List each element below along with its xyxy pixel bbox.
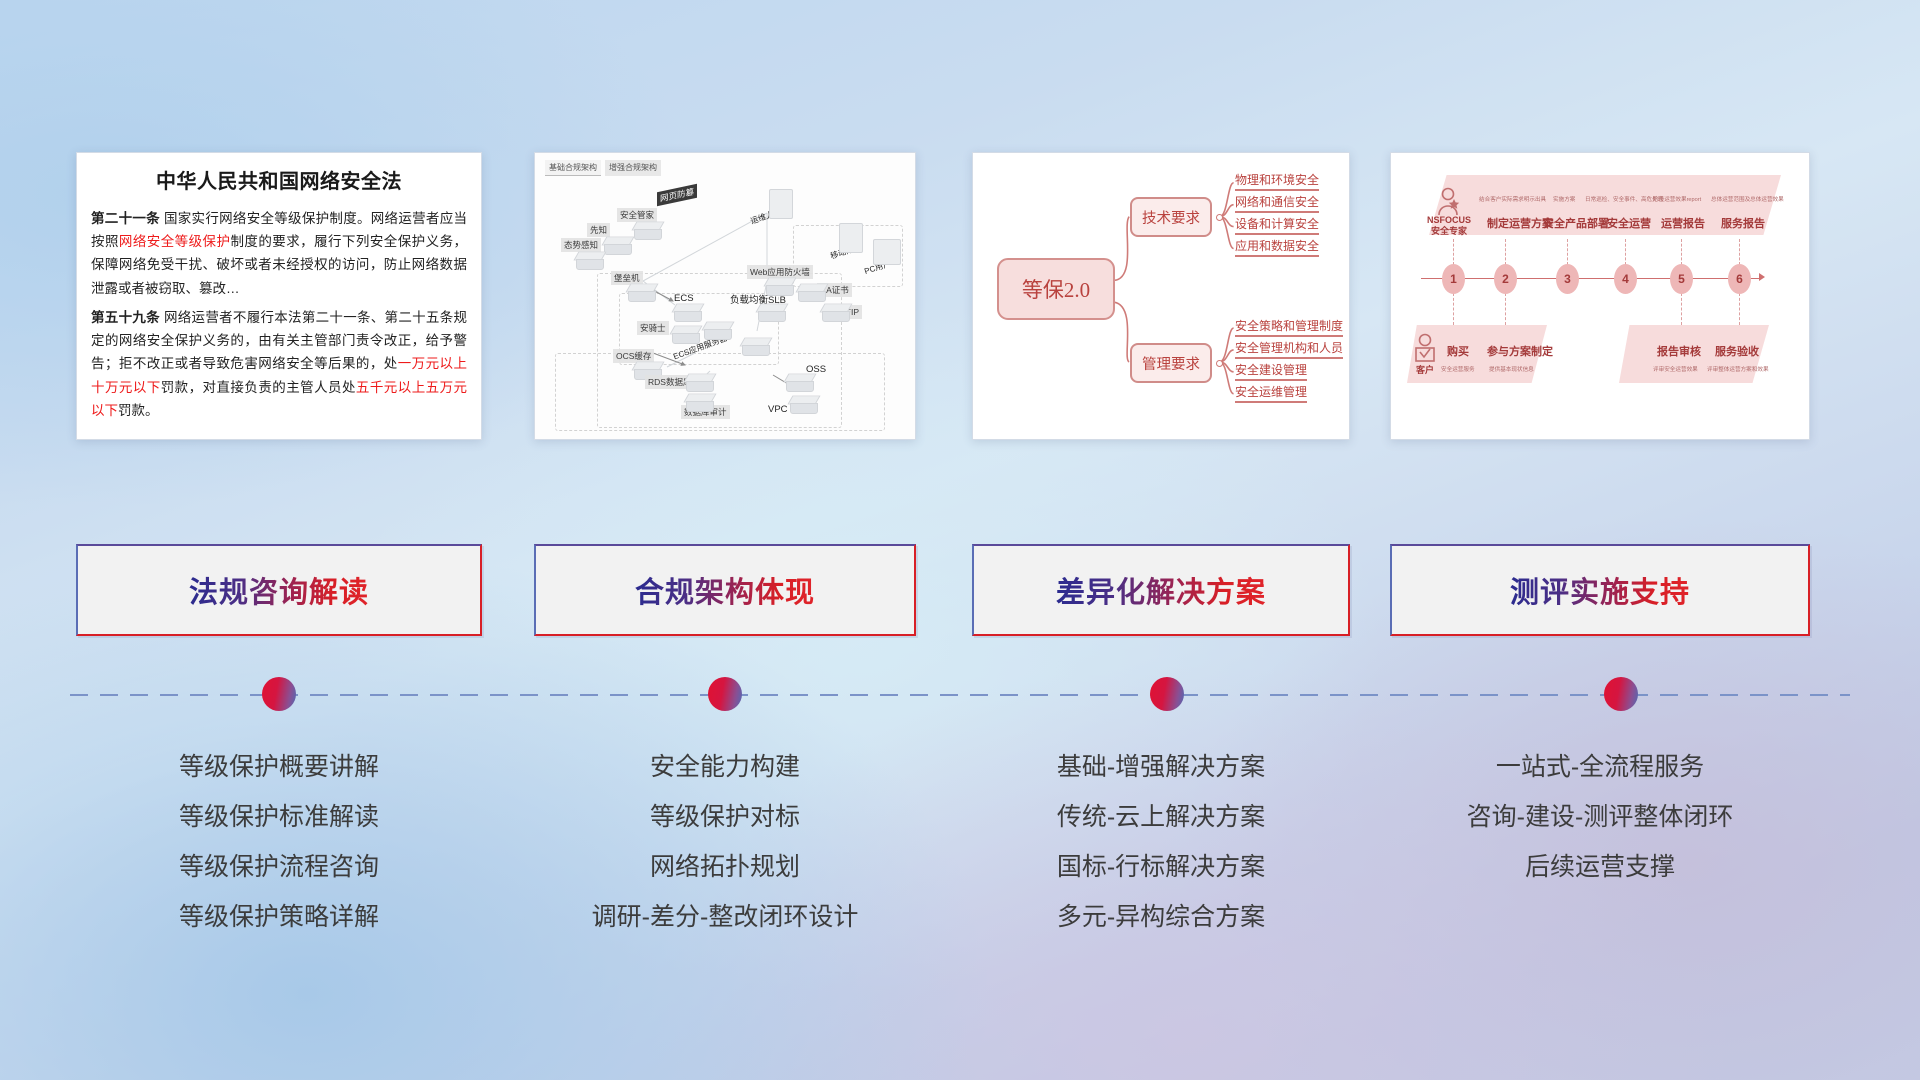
list-item: 多元-异构综合方案 — [972, 892, 1350, 942]
card-service-flow[interactable]: NSFOCUS 安全专家 结合客户实际需求明示出具 制定运营方案 实施方案 安全… — [1390, 152, 1810, 440]
timeline-dot-2[interactable] — [708, 677, 742, 711]
heading-box-assessment-support[interactable]: 测评实施支持 — [1390, 544, 1810, 636]
reference-cards-row: 中华人民共和国网络安全法 第二十一条 国家实行网络安全等级保护制度。网络运营者应… — [0, 152, 1920, 452]
list-item: 基础-增强解决方案 — [972, 742, 1350, 792]
node-label-anqishi: 安骑士 — [637, 321, 669, 335]
flow-bottom-title-6: 服务验收 — [1715, 343, 1759, 359]
flow-top-title-4: 安全运营 — [1607, 215, 1651, 231]
flow-stem-6 — [1739, 239, 1740, 265]
list-item: 调研-差分-整改闭环设计 — [534, 892, 916, 942]
flow-stem-2 — [1505, 239, 1506, 265]
flow-axis — [1421, 278, 1761, 279]
flow-top-sub-4: 日常巡检、安全事件、高危处理 — [1585, 195, 1663, 203]
flow-step-3[interactable]: 3 — [1556, 264, 1579, 294]
node-icon-bastion-host — [625, 281, 659, 307]
mindmap-leaf-mgmt-3: 安全建设管理 — [1235, 361, 1307, 383]
node-icon-anti-ddos — [819, 301, 853, 327]
flow-stem-1 — [1453, 239, 1454, 265]
card-mindmap-dengbao[interactable]: 等保2.0 技术要求 物理和环境安全 网络和通信安全 设备和计算安全 应用和数据… — [972, 152, 1350, 440]
node-icon-slb — [755, 301, 789, 327]
flow-step-1[interactable]: 1 — [1442, 264, 1465, 294]
list-item: 咨询-建设-测评整体闭环 — [1390, 792, 1810, 842]
flow-stem-b2 — [1505, 293, 1506, 325]
flow-bottom-sub-6: 评审整体运营方案和效果 — [1707, 365, 1769, 373]
node-icon-db-audit — [683, 391, 717, 417]
flow-bottom-sub-5: 评审安全运营效果 — [1653, 365, 1698, 373]
detail-list-3: 基础-增强解决方案 传统-云上解决方案 国标-行标解决方案 多元-异构综合方案 — [972, 742, 1350, 942]
mindmap-leaf-mgmt-2: 安全管理机构和人员 — [1235, 339, 1343, 361]
flow-top-sub-2: 结合客户实际需求明示出具 — [1479, 195, 1546, 203]
node-icon-ecs-cluster-1 — [701, 319, 735, 345]
article-59-label: 第五十九条 — [91, 310, 160, 325]
provider-role-label: NSFOCUS 安全专家 — [1423, 215, 1475, 237]
flow-stem-4 — [1625, 239, 1626, 265]
mindmap-branch-management: 管理要求 — [1130, 343, 1212, 383]
mindmap-root: 等保2.0 — [997, 258, 1115, 320]
heading-label-1: 法规咨询解读 — [189, 569, 369, 611]
mindmap-leaf-mgmt-4: 安全运维管理 — [1235, 383, 1307, 405]
mindmap-leaf-mgmt-1: 安全策略和管理制度 — [1235, 317, 1343, 339]
mindmap-leaf-tech-3: 设备和计算安全 — [1235, 215, 1319, 237]
node-icon-ops-user — [769, 189, 793, 219]
node-icon-ecs-cluster-2 — [739, 335, 773, 361]
flow-step-6[interactable]: 6 — [1728, 264, 1751, 294]
list-item: 等级保护对标 — [534, 792, 916, 842]
flow-bottom-title-1: 购买 — [1447, 343, 1469, 359]
heading-box-regulation-consulting[interactable]: 法规咨询解读 — [76, 544, 482, 636]
law-article-21: 第二十一条 国家实行网络安全等级保护制度。网络运营者应当按照网络安全等级保护制度… — [91, 207, 467, 300]
list-item: 等级保护流程咨询 — [76, 842, 482, 892]
heading-label-3: 差异化解决方案 — [1056, 569, 1266, 611]
node-icon-security-butler — [631, 219, 665, 245]
article-59-text-2: 罚款，对直接负责的主管人员处 — [161, 380, 356, 395]
headings-row: 法规咨询解读 合规架构体现 差异化解决方案 测评实施支持 — [0, 544, 1920, 636]
provider-role-line-1: NSFOCUS — [1423, 215, 1475, 226]
flow-step-2[interactable]: 2 — [1494, 264, 1517, 294]
flow-stem-3 — [1567, 239, 1568, 265]
flow-axis-arrow-icon — [1759, 273, 1765, 281]
list-item: 传统-云上解决方案 — [972, 792, 1350, 842]
node-icon-vpc — [787, 393, 821, 419]
card-cloud-architecture[interactable]: 基础合规架构 增强合规架构 — [534, 152, 916, 440]
mindmap-leaf-tech-1: 物理和环境安全 — [1235, 171, 1319, 193]
article-21-label: 第二十一条 — [91, 211, 160, 226]
list-item: 网络拓扑规划 — [534, 842, 916, 892]
detail-list-2: 安全能力构建 等级保护对标 网络拓扑规划 调研-差分-整改闭环设计 — [534, 742, 916, 942]
mindmap-leaf-tech-4: 应用和数据安全 — [1235, 237, 1319, 259]
law-article-59: 第五十九条 网络运营者不履行本法第二十一条、第二十五条规定的网络安全保护义务的，… — [91, 306, 467, 422]
article-59-text-3: 罚款。 — [118, 403, 159, 418]
flow-top-title-6: 服务报告 — [1721, 215, 1765, 231]
flow-top-title-5: 运营报告 — [1661, 215, 1705, 231]
node-icon-mobile-user — [839, 223, 863, 253]
mindmap-knob-technical[interactable] — [1216, 214, 1223, 221]
flow-stem-b6 — [1739, 293, 1740, 325]
flow-stem-5 — [1681, 239, 1682, 265]
node-icon-pc-user — [873, 239, 901, 265]
flow-bottom-title-5: 报告审核 — [1657, 343, 1701, 359]
detail-list-1: 等级保护概要讲解 等级保护标准解读 等级保护流程咨询 等级保护策略详解 — [76, 742, 482, 942]
flow-step-5[interactable]: 5 — [1670, 264, 1693, 294]
heading-label-2: 合规架构体现 — [635, 569, 815, 611]
flow-top-sub-3: 实施方案 — [1553, 195, 1575, 203]
list-item: 国标-行标解决方案 — [972, 842, 1350, 892]
flow-stem-b5 — [1681, 293, 1682, 325]
mindmap-leaf-tech-2: 网络和通信安全 — [1235, 193, 1319, 215]
heading-box-compliance-architecture[interactable]: 合规架构体现 — [534, 544, 916, 636]
list-item: 等级保护概要讲解 — [76, 742, 482, 792]
timeline-dot-3[interactable] — [1150, 677, 1184, 711]
mindmap-branch-technical: 技术要求 — [1130, 197, 1212, 237]
list-item: 等级保护标准解读 — [76, 792, 482, 842]
arch-links — [535, 153, 916, 440]
law-title: 中华人民共和国网络安全法 — [91, 165, 467, 194]
mindmap-knob-management[interactable] — [1216, 360, 1223, 367]
node-icon-situation-awareness — [573, 249, 607, 275]
provider-person-icon — [1435, 187, 1461, 217]
flow-step-4[interactable]: 4 — [1614, 264, 1637, 294]
flow-bottom-title-2: 参与方案制定 — [1487, 343, 1553, 359]
customer-role-label: 客户 — [1411, 363, 1439, 376]
flow-top-title-3: 安全产品部署 — [1543, 215, 1609, 231]
list-item: 安全能力构建 — [534, 742, 916, 792]
detail-list-4: 一站式-全流程服务 咨询-建设-测评整体闭环 后续运营支撑 — [1390, 742, 1810, 892]
flow-bottom-sub-2: 提供基本现状信息 — [1489, 365, 1534, 373]
flow-top-sub-6: 总体运营范围及总体运营效果 — [1711, 195, 1784, 203]
card-cybersecurity-law[interactable]: 中华人民共和国网络安全法 第二十一条 国家实行网络安全等级保护制度。网络运营者应… — [76, 152, 482, 440]
flow-stem-b1 — [1453, 293, 1454, 325]
provider-role-line-2: 安全专家 — [1423, 226, 1475, 237]
list-item: 后续运营支撑 — [1390, 842, 1810, 892]
flow-bottom-sub-1: 安全运营服务 — [1441, 365, 1475, 373]
timeline-dot-1[interactable] — [262, 677, 296, 711]
timeline-dot-4[interactable] — [1604, 677, 1638, 711]
list-item: 一站式-全流程服务 — [1390, 742, 1810, 792]
timeline-dashed-rail — [70, 694, 1850, 696]
heading-box-differentiated-solution[interactable]: 差异化解决方案 — [972, 544, 1350, 636]
customer-person-icon — [1413, 333, 1437, 363]
article-21-highlight: 网络安全等级保护 — [119, 234, 231, 249]
heading-label-4: 测评实施支持 — [1510, 569, 1690, 611]
list-item: 等级保护策略详解 — [76, 892, 482, 942]
flow-top-sub-5: 阶段运营效果report — [1653, 195, 1701, 203]
